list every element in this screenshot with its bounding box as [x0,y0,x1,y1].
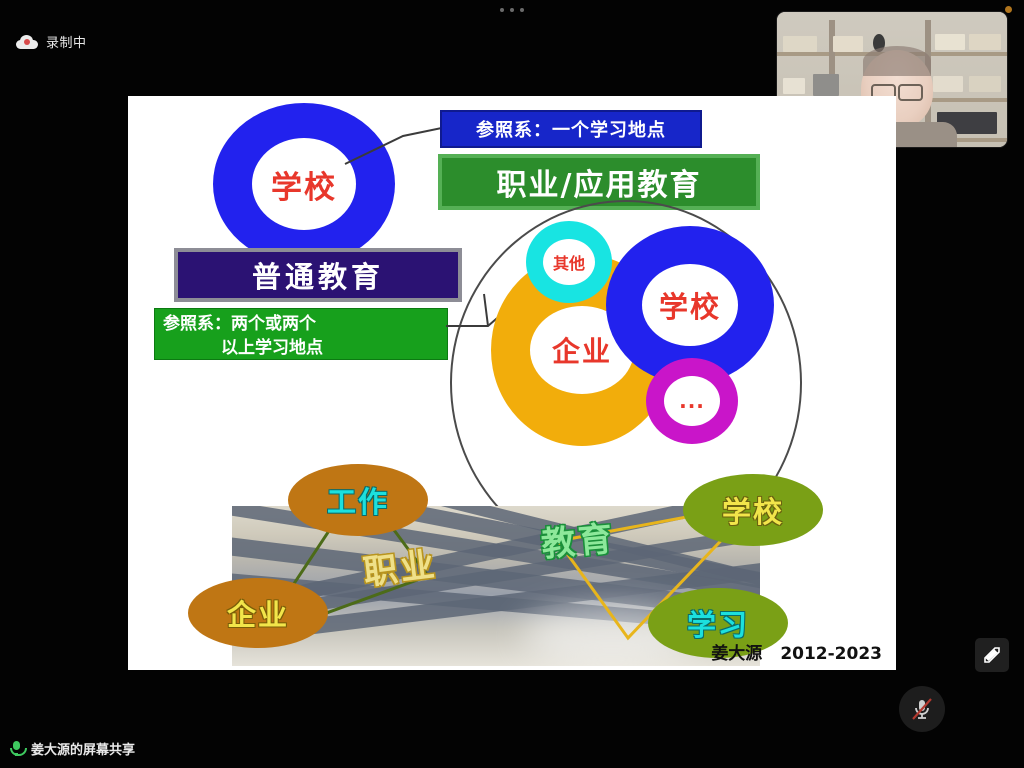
recording-indicator[interactable]: 录制中 [16,32,87,51]
general-reference-line1: 参照系：两个或两个 [163,312,439,336]
word-education: 教育 [539,511,617,566]
ellipse-work-label: 工作 [327,479,389,521]
ellipse-enterprise-label: 企业 [227,592,289,634]
vocational-reference-box: 参照系：一个学习地点 [440,110,702,148]
screen-share-status-bar: 姜大源的屏幕共享 [10,739,135,758]
general-reference-box: 参照系：两个或两个 以上学习地点 [154,308,448,360]
general-education-banner: 普通教育 [174,248,462,302]
circle-label-other: 其他 [553,250,585,274]
dot [520,8,524,12]
general-school-label: 学校 [271,162,337,207]
ellipse-learning-label: 学习 [687,602,749,644]
word-vocation: 职业 [360,537,439,595]
mute-button[interactable] [899,686,945,732]
general-education-label: 普通教育 [252,254,384,296]
circle-label-more: ... [679,389,705,413]
general-reference-line2: 以上学习地点 [163,336,439,360]
ellipse-school-label: 学校 [722,489,784,531]
dot [500,8,504,12]
credit-years: 2012-2023 [780,644,882,664]
circle-label-enterprise: 企业 [552,330,612,370]
cloud-record-icon [16,35,38,49]
vocational-circle-more: ... [646,358,738,444]
screen-share-label: 姜大源的屏幕共享 [31,739,135,758]
pen-annotate-icon [982,645,1002,665]
vocational-reference-label: 参照系：一个学习地点 [476,116,666,142]
meeting-screen-share-window: 录制中 姜大源 [0,0,1024,768]
microphone-muted-icon [909,696,935,722]
shared-slide: 学校 普通教育 参照系：两个或两个 以上学习地点 参照系：一个学习地点 职业/应… [128,96,896,670]
slide-credit: 姜大源 2012-2023 [711,639,882,664]
ellipse-work: 工作 [288,464,428,536]
ellipse-enterprise: 企业 [188,578,328,648]
participant-hair [863,46,931,76]
vocational-circle-other: 其他 [526,221,612,303]
circle-label-school: 学校 [659,284,721,326]
dot [510,8,514,12]
ellipse-school: 学校 [683,474,823,546]
credit-author: 姜大源 [711,639,762,664]
recording-label: 录制中 [46,32,87,51]
microphone-icon [10,741,23,756]
annotate-button[interactable] [975,638,1009,672]
vocational-education-label: 职业/应用教育 [497,160,702,204]
